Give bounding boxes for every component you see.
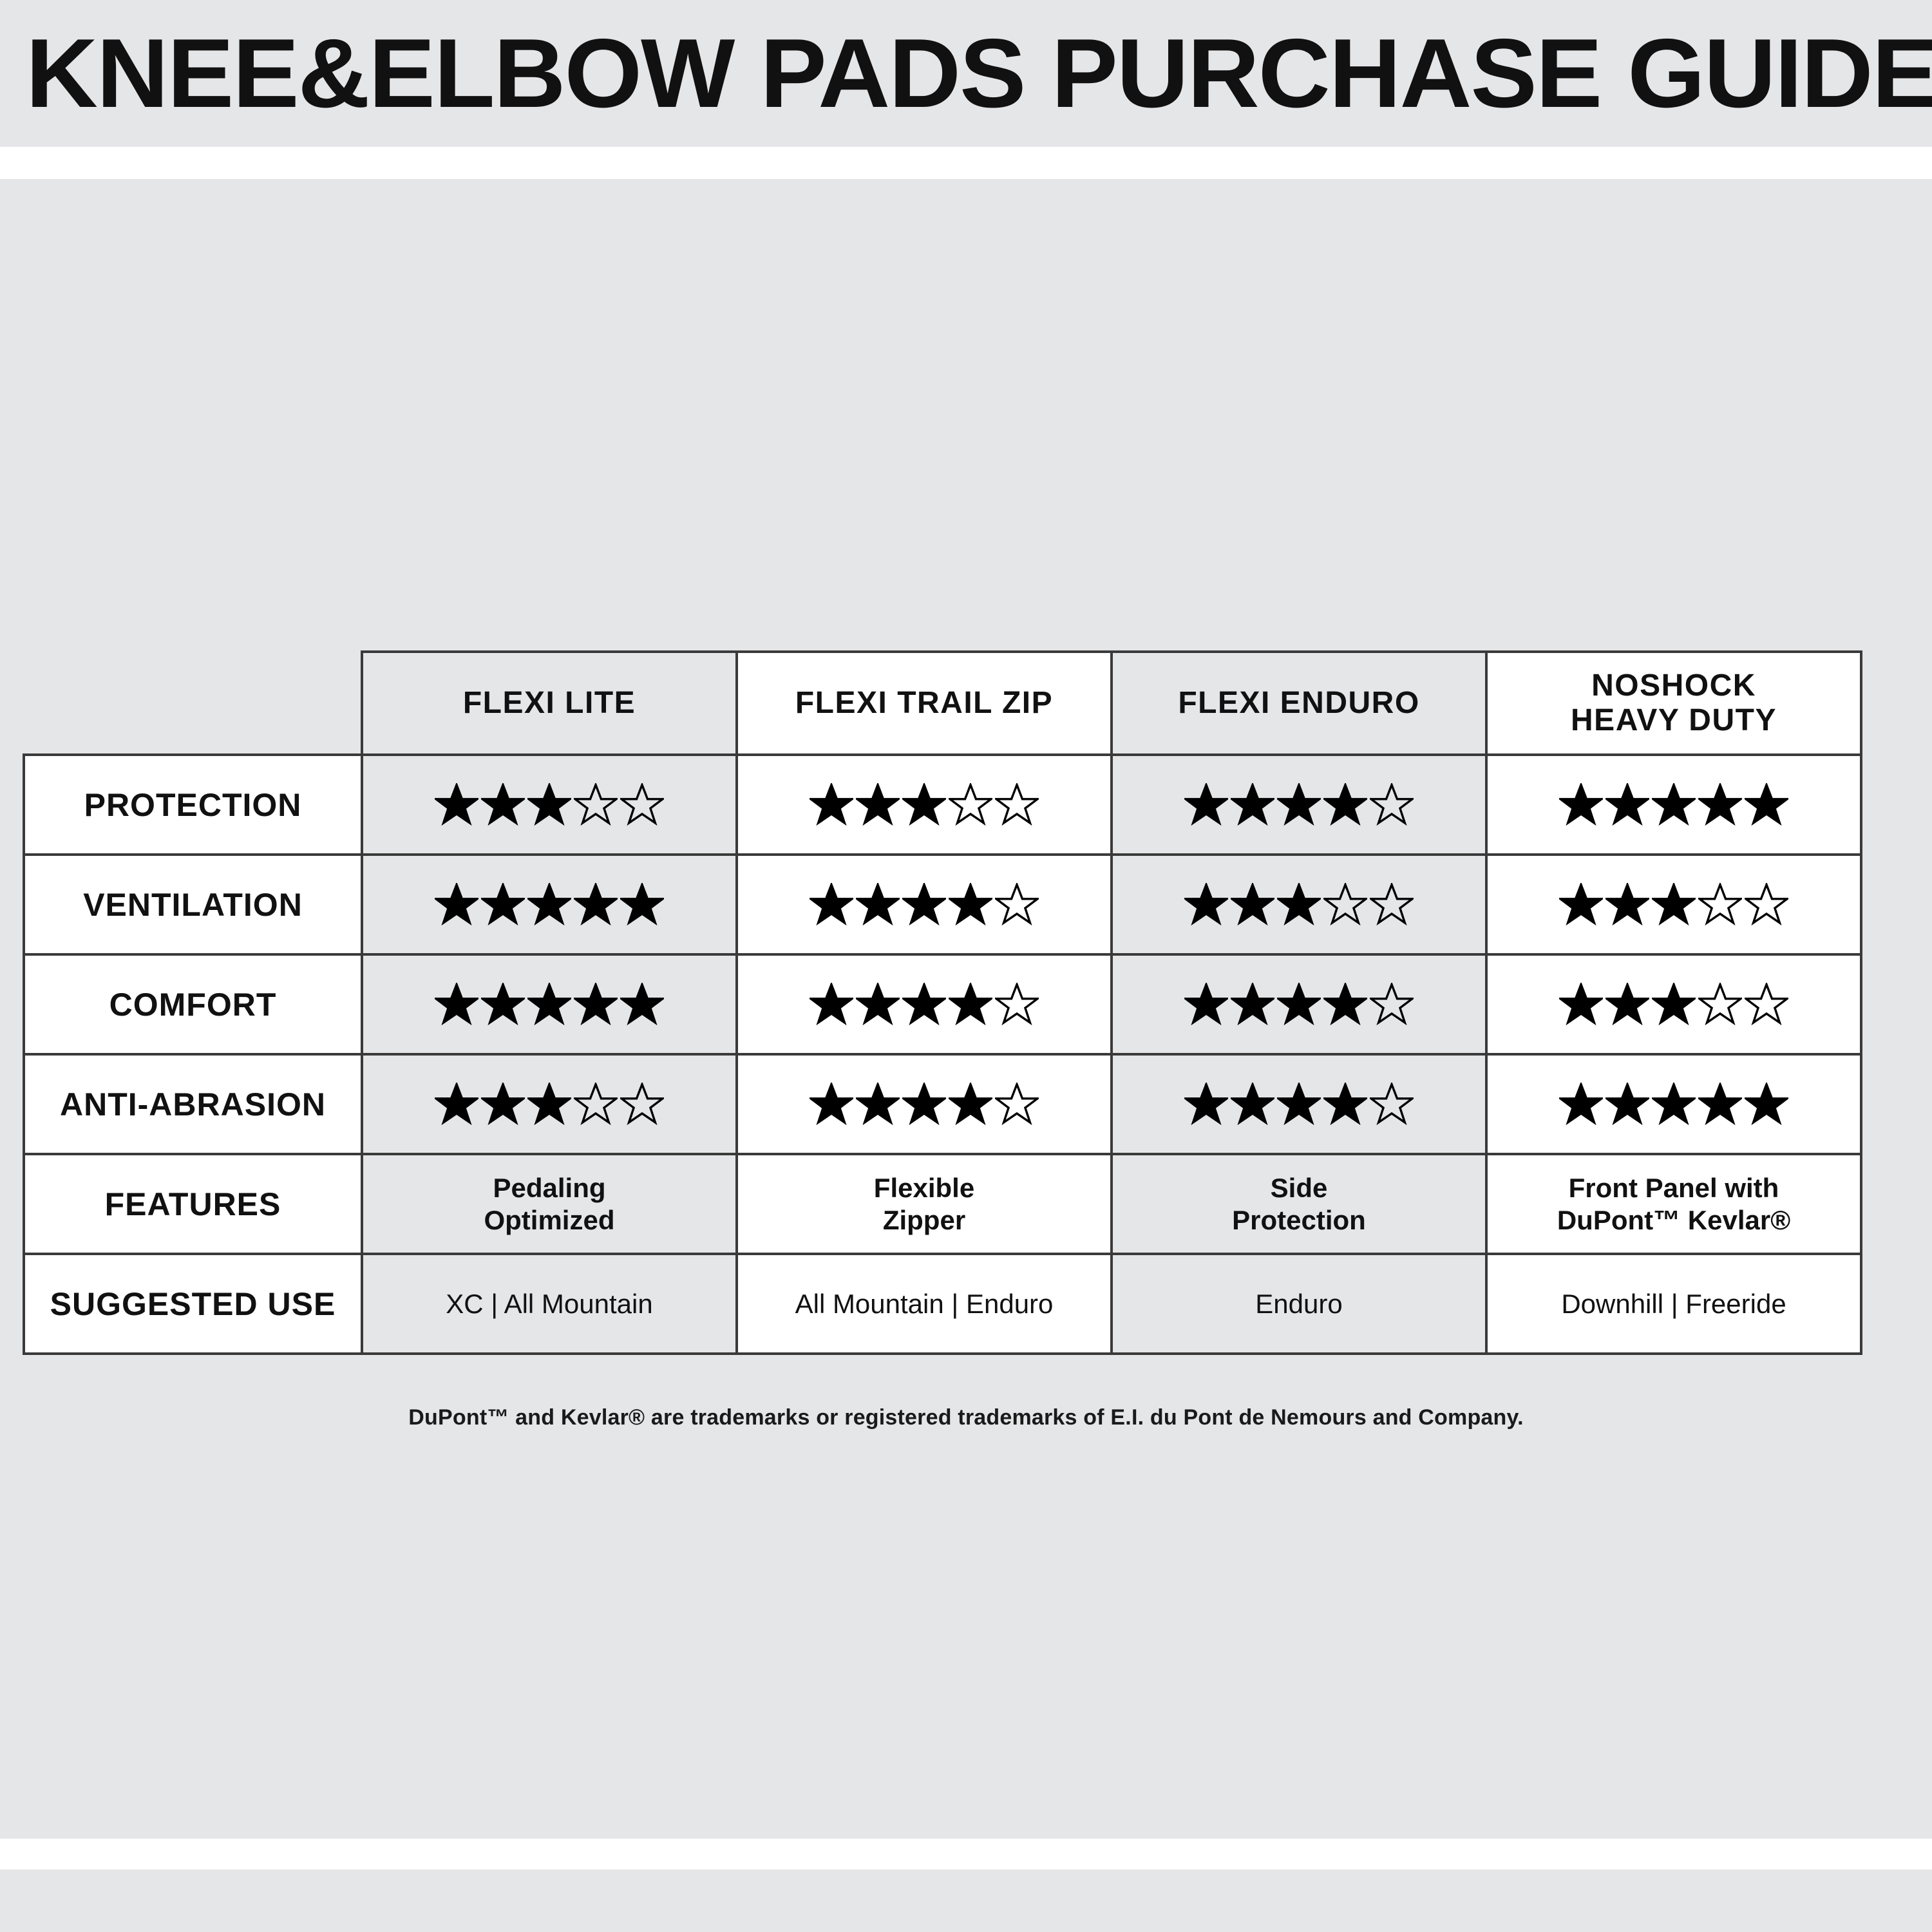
star-filled-icon bbox=[856, 1083, 900, 1126]
table-corner-cell bbox=[24, 652, 362, 755]
star-filled-icon bbox=[1652, 1083, 1696, 1126]
star-filled-icon bbox=[620, 983, 664, 1027]
star-filled-icon bbox=[856, 783, 900, 827]
star-filled-icon bbox=[1559, 783, 1603, 827]
text-cell: All Mountain | Enduro bbox=[737, 1254, 1112, 1354]
star-filled-icon bbox=[527, 783, 571, 827]
star-empty-icon bbox=[1698, 883, 1742, 927]
rating-cell bbox=[1112, 755, 1486, 855]
star-empty-icon bbox=[995, 783, 1039, 827]
star-filled-icon bbox=[1323, 783, 1367, 827]
text-cell: Downhill | Freeride bbox=[1486, 1254, 1861, 1354]
star-filled-icon bbox=[949, 883, 992, 927]
star-empty-icon bbox=[574, 1083, 618, 1126]
row-label-suggested-use: SUGGESTED USE bbox=[24, 1254, 362, 1354]
star-filled-icon bbox=[1277, 783, 1321, 827]
table-row: FEATURESPedalingOptimizedFlexibleZipperS… bbox=[24, 1154, 1861, 1254]
rating-cell bbox=[362, 855, 737, 954]
star-filled-icon bbox=[527, 1083, 571, 1126]
column-header-flexi-enduro: FLEXI ENDURO bbox=[1112, 652, 1486, 755]
star-filled-icon bbox=[527, 883, 571, 927]
rating-cell bbox=[1112, 855, 1486, 954]
rating-cell bbox=[1486, 755, 1861, 855]
star-filled-icon bbox=[1605, 1083, 1649, 1126]
rating-cell bbox=[737, 855, 1112, 954]
comparison-table: FLEXI LITE FLEXI TRAIL ZIP FLEXI ENDURO … bbox=[23, 650, 1862, 1355]
star-filled-icon bbox=[1698, 783, 1742, 827]
page-title: KNEE&ELBOW PADS PURCHASE GUIDE bbox=[26, 17, 1932, 130]
row-label-protection: PROTECTION bbox=[24, 755, 362, 855]
star-filled-icon bbox=[435, 983, 478, 1027]
star-empty-icon bbox=[1745, 883, 1788, 927]
star-filled-icon bbox=[481, 883, 525, 927]
star-filled-icon bbox=[1277, 1083, 1321, 1126]
star-empty-icon bbox=[949, 783, 992, 827]
top-white-divider bbox=[0, 147, 1932, 179]
star-rating bbox=[363, 783, 735, 827]
star-filled-icon bbox=[1698, 1083, 1742, 1126]
star-rating bbox=[1113, 783, 1485, 827]
table-header-row: FLEXI LITE FLEXI TRAIL ZIP FLEXI ENDURO … bbox=[24, 652, 1861, 755]
rating-cell bbox=[1486, 855, 1861, 954]
star-empty-icon bbox=[1370, 883, 1414, 927]
star-filled-icon bbox=[1184, 983, 1228, 1027]
star-empty-icon bbox=[995, 1083, 1039, 1126]
trademark-footnote: DuPont™ and Kevlar® are trademarks or re… bbox=[0, 1405, 1932, 1430]
rating-cell bbox=[737, 954, 1112, 1054]
row-label-features: FEATURES bbox=[24, 1154, 362, 1254]
star-rating bbox=[363, 883, 735, 927]
star-filled-icon bbox=[810, 1083, 853, 1126]
star-filled-icon bbox=[1559, 983, 1603, 1027]
star-filled-icon bbox=[1231, 1083, 1274, 1126]
rating-cell bbox=[1486, 1054, 1861, 1154]
star-empty-icon bbox=[1370, 983, 1414, 1027]
star-filled-icon bbox=[1652, 883, 1696, 927]
star-rating bbox=[1113, 983, 1485, 1027]
star-rating bbox=[363, 983, 735, 1027]
text-cell: Front Panel withDuPont™ Kevlar® bbox=[1486, 1154, 1861, 1254]
star-empty-icon bbox=[1370, 783, 1414, 827]
table-row: COMFORT bbox=[24, 954, 1861, 1054]
title-band: KNEE&ELBOW PADS PURCHASE GUIDE bbox=[0, 0, 1932, 147]
star-filled-icon bbox=[1323, 1083, 1367, 1126]
star-filled-icon bbox=[810, 783, 853, 827]
star-filled-icon bbox=[481, 1083, 525, 1126]
star-filled-icon bbox=[1605, 883, 1649, 927]
star-filled-icon bbox=[481, 983, 525, 1027]
star-filled-icon bbox=[810, 983, 853, 1027]
star-filled-icon bbox=[1745, 783, 1788, 827]
star-filled-icon bbox=[949, 983, 992, 1027]
star-filled-icon bbox=[620, 883, 664, 927]
rating-cell bbox=[362, 755, 737, 855]
table-head: FLEXI LITE FLEXI TRAIL ZIP FLEXI ENDURO … bbox=[24, 652, 1861, 755]
star-filled-icon bbox=[481, 783, 525, 827]
star-filled-icon bbox=[1184, 1083, 1228, 1126]
rating-cell bbox=[1112, 954, 1486, 1054]
text-cell: Enduro bbox=[1112, 1254, 1486, 1354]
star-filled-icon bbox=[902, 783, 946, 827]
star-filled-icon bbox=[949, 1083, 992, 1126]
star-filled-icon bbox=[435, 883, 478, 927]
star-rating bbox=[1488, 983, 1860, 1027]
star-empty-icon bbox=[1370, 1083, 1414, 1126]
text-cell: XC | All Mountain bbox=[362, 1254, 737, 1354]
star-rating bbox=[1113, 883, 1485, 927]
star-filled-icon bbox=[1231, 783, 1274, 827]
star-filled-icon bbox=[1323, 983, 1367, 1027]
star-rating bbox=[738, 783, 1110, 827]
star-filled-icon bbox=[1231, 983, 1274, 1027]
star-rating bbox=[1113, 1083, 1485, 1126]
star-empty-icon bbox=[995, 883, 1039, 927]
text-cell: PedalingOptimized bbox=[362, 1154, 737, 1254]
star-filled-icon bbox=[856, 883, 900, 927]
table-row: VENTILATION bbox=[24, 855, 1861, 954]
row-label-anti-abrasion: ANTI-ABRASION bbox=[24, 1054, 362, 1154]
table-row: ANTI-ABRASION bbox=[24, 1054, 1861, 1154]
rating-cell bbox=[362, 1054, 737, 1154]
star-filled-icon bbox=[574, 883, 618, 927]
star-filled-icon bbox=[527, 983, 571, 1027]
comparison-table-container: FLEXI LITE FLEXI TRAIL ZIP FLEXI ENDURO … bbox=[23, 650, 1861, 1355]
table-body: PROTECTIONVENTILATIONCOMFORTANTI-ABRASIO… bbox=[24, 755, 1861, 1354]
star-rating bbox=[738, 883, 1110, 927]
star-filled-icon bbox=[1184, 883, 1228, 927]
star-filled-icon bbox=[1277, 883, 1321, 927]
star-filled-icon bbox=[810, 883, 853, 927]
row-label-comfort: COMFORT bbox=[24, 954, 362, 1054]
star-rating bbox=[738, 1083, 1110, 1126]
star-rating bbox=[738, 983, 1110, 1027]
star-filled-icon bbox=[902, 983, 946, 1027]
star-filled-icon bbox=[574, 983, 618, 1027]
column-header-flexi-trail-zip: FLEXI TRAIL ZIP bbox=[737, 652, 1112, 755]
star-filled-icon bbox=[435, 783, 478, 827]
star-rating bbox=[363, 1083, 735, 1126]
rating-cell bbox=[362, 954, 737, 1054]
table-row: PROTECTION bbox=[24, 755, 1861, 855]
text-cell: FlexibleZipper bbox=[737, 1154, 1112, 1254]
star-empty-icon bbox=[620, 1083, 664, 1126]
star-filled-icon bbox=[1605, 983, 1649, 1027]
rating-cell bbox=[1112, 1054, 1486, 1154]
star-filled-icon bbox=[856, 983, 900, 1027]
column-header-flexi-lite: FLEXI LITE bbox=[362, 652, 737, 755]
star-filled-icon bbox=[902, 1083, 946, 1126]
text-cell: SideProtection bbox=[1112, 1154, 1486, 1254]
star-filled-icon bbox=[1559, 883, 1603, 927]
star-filled-icon bbox=[1652, 783, 1696, 827]
star-empty-icon bbox=[1745, 983, 1788, 1027]
star-filled-icon bbox=[902, 883, 946, 927]
star-empty-icon bbox=[995, 983, 1039, 1027]
bottom-white-divider bbox=[0, 1839, 1932, 1870]
star-filled-icon bbox=[1745, 1083, 1788, 1126]
star-empty-icon bbox=[620, 783, 664, 827]
star-filled-icon bbox=[1559, 1083, 1603, 1126]
star-empty-icon bbox=[1323, 883, 1367, 927]
star-filled-icon bbox=[1652, 983, 1696, 1027]
star-rating bbox=[1488, 783, 1860, 827]
star-rating bbox=[1488, 1083, 1860, 1126]
rating-cell bbox=[737, 755, 1112, 855]
rating-cell bbox=[1486, 954, 1861, 1054]
star-filled-icon bbox=[1277, 983, 1321, 1027]
star-filled-icon bbox=[1605, 783, 1649, 827]
rating-cell bbox=[737, 1054, 1112, 1154]
star-empty-icon bbox=[1698, 983, 1742, 1027]
star-filled-icon bbox=[435, 1083, 478, 1126]
column-header-noshock-heavy-duty: NOSHOCKHEAVY DUTY bbox=[1486, 652, 1861, 755]
row-label-ventilation: VENTILATION bbox=[24, 855, 362, 954]
star-filled-icon bbox=[1231, 883, 1274, 927]
table-row: SUGGESTED USEXC | All MountainAll Mounta… bbox=[24, 1254, 1861, 1354]
star-empty-icon bbox=[574, 783, 618, 827]
star-filled-icon bbox=[1184, 783, 1228, 827]
star-rating bbox=[1488, 883, 1860, 927]
